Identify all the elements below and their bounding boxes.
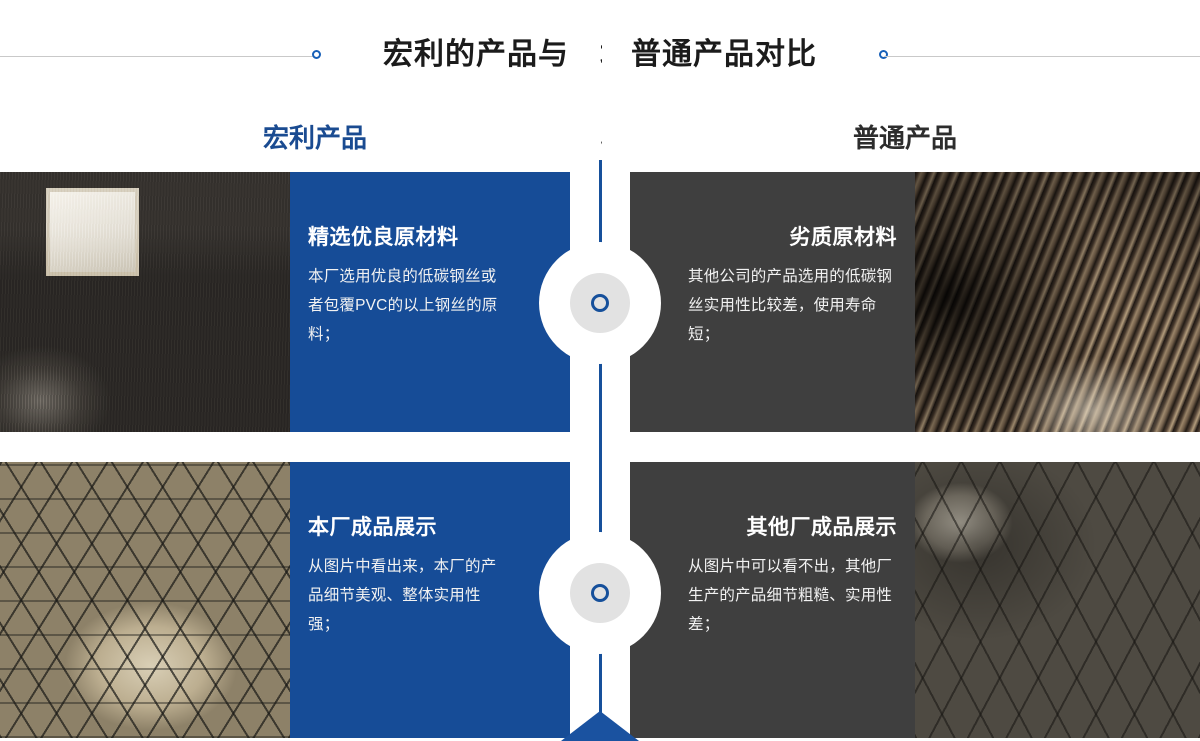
panel-ours-materials: 精选优良原材料 本厂选用优良的低碳钢丝或者包覆PVC的以上钢丝的原料； — [290, 172, 570, 432]
photo-ordinary-materials — [915, 172, 1200, 432]
vs-label: VS — [540, 114, 660, 160]
panel-title: 本厂成品展示 — [308, 514, 510, 542]
ring-icon — [591, 294, 609, 312]
panel-body: 本厂选用优良的低碳钢丝或者包覆PVC的以上钢丝的原料； — [308, 262, 510, 349]
photo-ordinary-products — [915, 462, 1200, 738]
timeline-node-1 — [539, 242, 661, 364]
photo-ours-materials — [0, 172, 290, 432]
page-title: 宏利的产品与市场普通产品对比 — [0, 30, 1200, 80]
circle-marker-icon-right — [879, 50, 888, 59]
ring-icon — [591, 584, 609, 602]
photo-ours-products — [0, 462, 290, 738]
column-label-ours: 宏利产品 — [180, 118, 450, 158]
column-label-ordinary: 普通产品 — [770, 118, 1040, 158]
panel-title: 其他厂成品展示 — [688, 514, 897, 542]
panel-body: 其他公司的产品选用的低碳钢丝实用性比较差，使用寿命短； — [688, 262, 897, 349]
panel-ours-products: 本厂成品展示 从图片中看出来，本厂的产品细节美观、整体实用性强； — [290, 462, 570, 738]
panel-body: 从图片中看出来，本厂的产品细节美观、整体实用性强； — [308, 552, 510, 639]
page-header: 宏利的产品与市场普通产品对比 — [0, 0, 1200, 110]
header-rule-right — [884, 56, 1200, 57]
panel-ordinary-materials: 劣质原材料 其他公司的产品选用的低碳钢丝实用性比较差，使用寿命短； — [630, 172, 915, 432]
timeline-node-2 — [539, 532, 661, 654]
panel-ordinary-products: 其他厂成品展示 从图片中可以看不出，其他厂生产的产品细节粗糙、实用性差； — [630, 462, 915, 738]
panel-title: 劣质原材料 — [688, 224, 897, 252]
panel-title: 精选优良原材料 — [308, 224, 510, 252]
panel-body: 从图片中可以看不出，其他厂生产的产品细节粗糙、实用性差； — [688, 552, 897, 639]
